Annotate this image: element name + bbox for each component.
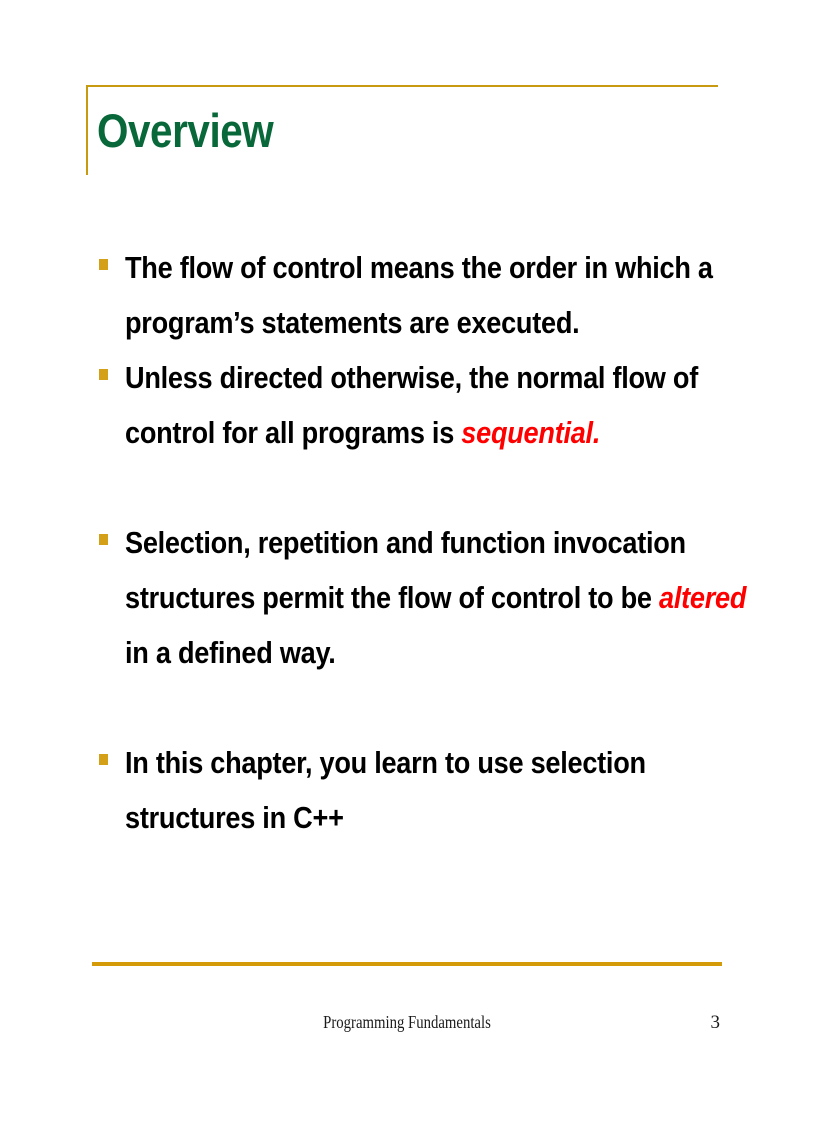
bullet-list: The flow of control means the order in w… xyxy=(95,240,755,845)
emphasis-text: altered xyxy=(659,580,746,615)
list-item: The flow of control means the order in w… xyxy=(95,240,755,350)
bullet-square-icon xyxy=(99,369,108,380)
list-item-text: The flow of control means the order in w… xyxy=(125,240,755,350)
list-item-text: In this chapter, you learn to use select… xyxy=(125,735,755,845)
list-item-text: Selection, repetition and function invoc… xyxy=(125,515,755,680)
footer-rule xyxy=(92,962,722,966)
list-item: Selection, repetition and function invoc… xyxy=(95,515,755,680)
page-number: 3 xyxy=(711,1012,721,1034)
page-title: Overview xyxy=(97,104,273,158)
footer-title: Programming Fundamentals xyxy=(149,1012,666,1033)
bullet-square-icon xyxy=(99,259,108,270)
title-left-rule xyxy=(86,85,88,175)
spacer xyxy=(95,460,755,515)
text-segment: in a defined way. xyxy=(125,635,336,670)
title-top-rule xyxy=(86,85,718,87)
text-segment: Unless directed otherwise, the normal fl… xyxy=(125,360,698,450)
slide: Overview The flow of control means the o… xyxy=(0,0,816,1123)
bullet-square-icon xyxy=(99,754,108,765)
emphasis-text: sequential. xyxy=(461,415,600,450)
footer: Programming Fundamentals 3 xyxy=(92,1012,722,1038)
list-item: In this chapter, you learn to use select… xyxy=(95,735,755,845)
list-item: Unless directed otherwise, the normal fl… xyxy=(95,350,755,460)
list-item-text: Unless directed otherwise, the normal fl… xyxy=(125,350,755,460)
bullet-square-icon xyxy=(99,534,108,545)
text-segment: In this chapter, you learn to use select… xyxy=(125,745,646,835)
text-segment: Selection, repetition and function invoc… xyxy=(125,525,686,615)
spacer xyxy=(95,680,755,735)
text-segment: The flow of control means the order in w… xyxy=(125,250,713,340)
